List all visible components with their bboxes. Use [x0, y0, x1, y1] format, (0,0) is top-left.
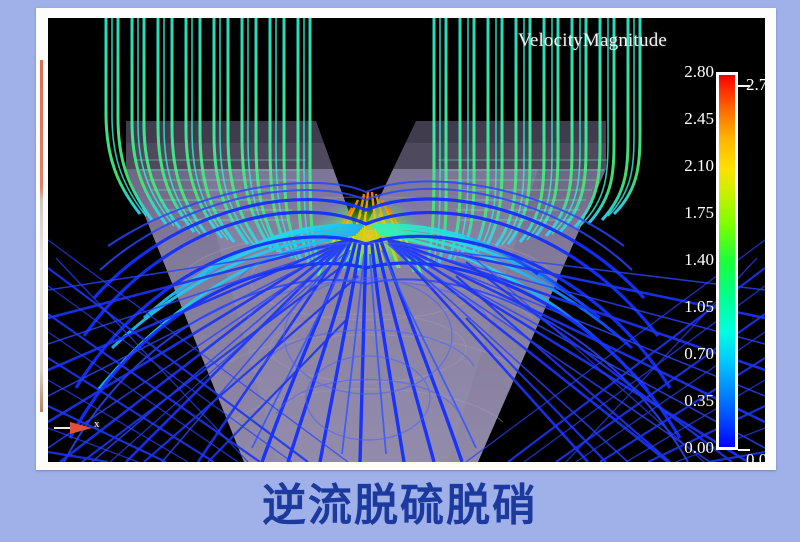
- render-canvas[interactable]: VelocityMagnitude 2.80 2.45 2.10 1.75 1.…: [48, 18, 765, 462]
- frame-left-accent-strip: [40, 60, 43, 412]
- colorbar-tick-7: 0.35: [684, 391, 714, 411]
- colorbar-tick-8: 0.00: [684, 438, 714, 458]
- colorbar-range-max: 2.74: [746, 75, 765, 95]
- colorbar-tick-0: 2.80: [684, 62, 714, 82]
- colorbar-gradient: [716, 72, 738, 450]
- colorbar[interactable]: 2.80 2.45 2.10 1.75 1.40 1.05 0.70 0.35 …: [676, 64, 765, 462]
- colorbar-tick-2: 2.10: [684, 156, 714, 176]
- colorbar-tick-4: 1.40: [684, 250, 714, 270]
- colorbar-range-min: 0.00: [746, 450, 765, 462]
- colorbar-tick-1: 2.45: [684, 109, 714, 129]
- axis-label-x: x: [94, 418, 100, 430]
- colorbar-tick-labels: 2.80 2.45 2.10 1.75 1.40 1.05 0.70 0.35 …: [636, 64, 714, 462]
- screenshot-root: VelocityMagnitude 2.80 2.45 2.10 1.75 1.…: [0, 0, 800, 542]
- colorbar-title: VelocityMagnitude: [518, 30, 667, 52]
- colorbar-tick-3: 1.75: [684, 203, 714, 223]
- colorbar-tick-5: 1.05: [684, 297, 714, 317]
- colorbar-tick-6: 0.70: [684, 344, 714, 364]
- page-background-strip: [0, 0, 800, 8]
- figure-caption: 逆流脱硫脱硝: [0, 476, 800, 536]
- axis-orientation-indicator: x: [54, 418, 106, 438]
